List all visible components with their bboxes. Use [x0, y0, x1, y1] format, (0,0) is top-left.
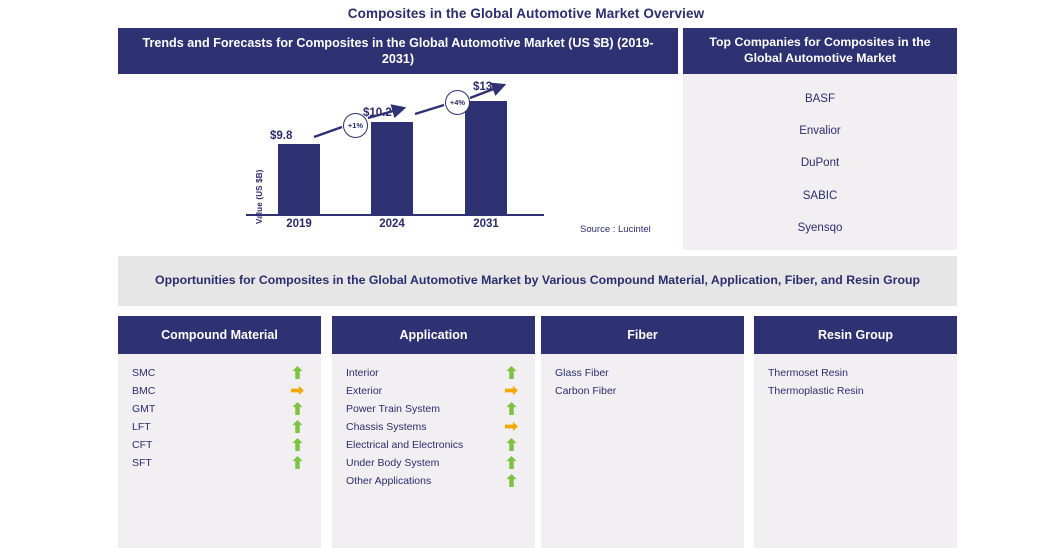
- trend-up-icon: [291, 438, 304, 451]
- list-item-label: Carbon Fiber: [555, 385, 710, 397]
- column-header: Compound Material: [118, 316, 321, 354]
- top-companies-list: BASF Envalior DuPont SABIC Syensqo: [683, 74, 957, 250]
- list-item-label: Power Train System: [346, 403, 501, 415]
- column-header: Application: [332, 316, 535, 354]
- list-item: SMC: [118, 364, 321, 382]
- list-item-label: Thermoplastic Resin: [768, 385, 923, 397]
- trend-up-icon: [505, 366, 518, 379]
- trends-panel: Trends and Forecasts for Composites in t…: [118, 28, 678, 250]
- infographic-page: Composites in the Global Automotive Mark…: [0, 0, 1052, 548]
- list-item: Syensqo: [798, 222, 843, 234]
- source-note: Source : Lucintel: [580, 224, 651, 235]
- list-item-label: Interior: [346, 367, 501, 379]
- column-body: Glass FiberCarbon Fiber: [541, 354, 744, 400]
- list-item-label: SFT: [132, 457, 287, 469]
- trend-indicator: [501, 400, 521, 418]
- trend-indicator: [287, 418, 307, 436]
- list-item: Power Train System: [332, 400, 535, 418]
- top-companies-header: Top Companies for Composites in the Glob…: [683, 28, 957, 74]
- list-item-label: BMC: [132, 385, 287, 397]
- cagr-label-2024-2031: +4%: [445, 90, 470, 115]
- column-body: SMCBMCGMTLFTCFTSFT: [118, 354, 321, 472]
- column-application: Application InteriorExteriorPower Train …: [332, 316, 535, 548]
- column-header: Fiber: [541, 316, 744, 354]
- list-item-label: GMT: [132, 403, 287, 415]
- trend-indicator: [287, 364, 307, 382]
- list-item: SABIC: [803, 190, 838, 202]
- list-item-label: SMC: [132, 367, 287, 379]
- trend-up-icon: [505, 438, 518, 451]
- trend-indicator: [501, 418, 521, 436]
- top-companies-panel: Top Companies for Composites in the Glob…: [683, 28, 957, 250]
- trend-up-icon: [505, 474, 518, 487]
- list-item: Carbon Fiber: [541, 382, 744, 400]
- opportunities-banner: Opportunities for Composites in the Glob…: [118, 256, 957, 306]
- column-body: InteriorExteriorPower Train SystemChassi…: [332, 354, 535, 490]
- trend-up-icon: [291, 420, 304, 433]
- list-item: CFT: [118, 436, 321, 454]
- list-item-label: Thermoset Resin: [768, 367, 923, 379]
- list-item: BASF: [805, 93, 835, 105]
- list-item: Electrical and Electronics: [332, 436, 535, 454]
- list-item: GMT: [118, 400, 321, 418]
- list-item-label: Other Applications: [346, 475, 501, 487]
- page-title: Composites in the Global Automotive Mark…: [0, 6, 1052, 21]
- list-item-label: Electrical and Electronics: [346, 439, 501, 451]
- trend-flat-icon: [505, 384, 518, 397]
- trend-indicator: [287, 382, 307, 400]
- trend-up-icon: [291, 456, 304, 469]
- trend-indicator: [287, 436, 307, 454]
- trend-flat-icon: [291, 384, 304, 397]
- list-item: Envalior: [799, 125, 841, 137]
- list-item: Under Body System: [332, 454, 535, 472]
- list-item-label: Glass Fiber: [555, 367, 710, 379]
- trend-flat-icon: [505, 420, 518, 433]
- trend-up-icon: [505, 456, 518, 469]
- column-compound-material: Compound Material SMCBMCGMTLFTCFTSFT: [118, 316, 321, 548]
- trend-indicator: [287, 400, 307, 418]
- list-item: Exterior: [332, 382, 535, 400]
- trend-indicator: [501, 364, 521, 382]
- list-item: Thermoplastic Resin: [754, 382, 957, 400]
- trends-panel-header: Trends and Forecasts for Composites in t…: [118, 28, 678, 74]
- list-item-label: CFT: [132, 439, 287, 451]
- trend-up-icon: [505, 402, 518, 415]
- list-item: BMC: [118, 382, 321, 400]
- list-item: DuPont: [801, 157, 839, 169]
- trend-up-icon: [291, 366, 304, 379]
- list-item: LFT: [118, 418, 321, 436]
- column-header: Resin Group: [754, 316, 957, 354]
- column-fiber: Fiber Glass FiberCarbon Fiber: [541, 316, 744, 548]
- bar-chart: Value (US $B) $9.8 $10.2 $13 2019 2024 2…: [118, 74, 678, 250]
- list-item: Thermoset Resin: [754, 364, 957, 382]
- trend-up-icon: [291, 402, 304, 415]
- list-item: Chassis Systems: [332, 418, 535, 436]
- list-item-label: Under Body System: [346, 457, 501, 469]
- trend-indicator: [501, 436, 521, 454]
- column-resin-group: Resin Group Thermoset ResinThermoplastic…: [754, 316, 957, 548]
- list-item-label: Exterior: [346, 385, 501, 397]
- list-item: Glass Fiber: [541, 364, 744, 382]
- cagr-label-2019-2024: +1%: [343, 113, 368, 138]
- list-item: SFT: [118, 454, 321, 472]
- trend-indicator: [501, 472, 521, 490]
- trend-indicator: [501, 382, 521, 400]
- column-body: Thermoset ResinThermoplastic Resin: [754, 354, 957, 400]
- list-item: Interior: [332, 364, 535, 382]
- list-item-label: Chassis Systems: [346, 421, 501, 433]
- list-item: Other Applications: [332, 472, 535, 490]
- trend-indicator: [501, 454, 521, 472]
- list-item-label: LFT: [132, 421, 287, 433]
- trend-indicator: [287, 454, 307, 472]
